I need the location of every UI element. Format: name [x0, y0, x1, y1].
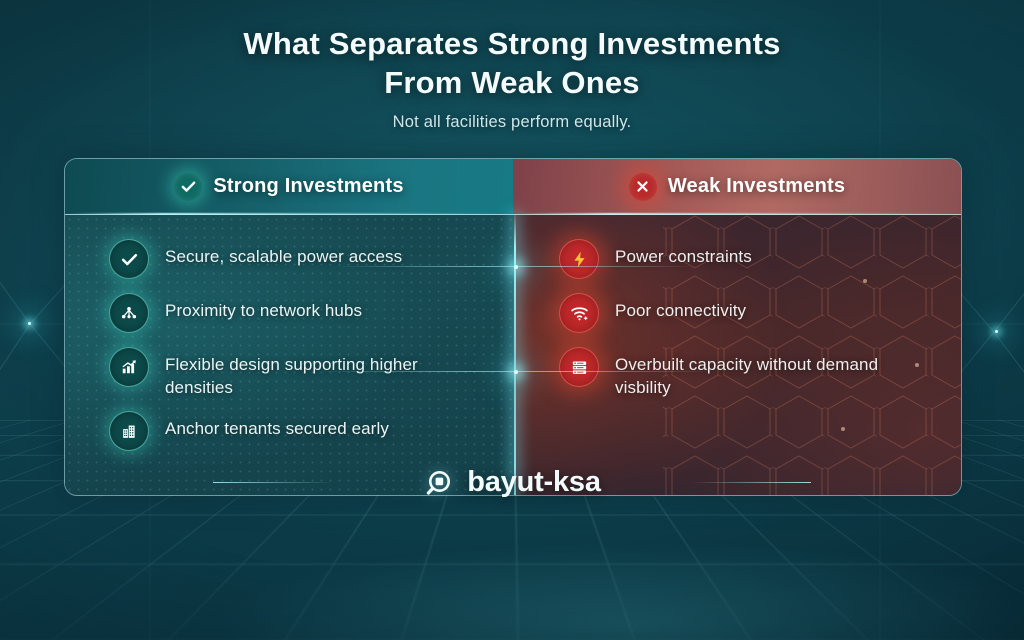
list-item[interactable]: Proximity to network hubs — [65, 299, 513, 333]
right-glow-node — [995, 330, 998, 333]
list-item-label: Poor connectivity — [615, 299, 746, 322]
column-weak-investments: Weak Investments — [513, 159, 961, 495]
list-item-label: Proximity to network hubs — [165, 299, 362, 322]
check-circle-icon — [174, 173, 202, 201]
strong-column-body: Secure, scalable power access — [65, 215, 513, 495]
page-subtitle: Not all facilities perform equally. — [0, 113, 1024, 132]
divider-node — [514, 265, 518, 269]
column-strong-investments: Strong Investments Secure, scalable powe… — [65, 159, 513, 495]
list-item[interactable]: Power constraints — [513, 245, 961, 279]
check-icon — [109, 239, 149, 279]
list-item[interactable]: Anchor tenants secured early — [65, 417, 513, 451]
list-item-label: Overbuilt capacity without demand visbil… — [615, 353, 915, 399]
left-glow-node — [28, 322, 31, 325]
infographic-canvas: What Separates Strong Investments From W… — [0, 0, 1024, 640]
network-nodes-icon — [109, 293, 149, 333]
building-icon — [109, 411, 149, 451]
title-line-1: What Separates Strong Investments — [243, 26, 780, 61]
strong-column-title: Strong Investments — [213, 175, 403, 198]
list-item-label: Anchor tenants secured early — [165, 417, 389, 440]
title-line-2: From Weak Ones — [0, 63, 1024, 102]
list-item[interactable]: Poor connectivity — [513, 299, 961, 333]
logo-beam-left — [691, 482, 811, 483]
weak-column-title: Weak Investments — [668, 175, 845, 198]
lightning-bolt-icon — [559, 239, 599, 279]
list-item-label: Secure, scalable power access — [165, 245, 402, 268]
list-item-label: Power constraints — [615, 245, 752, 268]
divider-node — [514, 370, 518, 374]
strong-items-list: Secure, scalable power access — [65, 215, 513, 451]
list-item-label: Flexible design supporting higher densit… — [165, 353, 475, 399]
x-circle-icon — [629, 173, 657, 201]
list-item[interactable]: Overbuilt capacity without demand visbil… — [513, 353, 961, 399]
weak-column-body: Power constraints — [513, 215, 961, 495]
server-rack-icon — [559, 347, 599, 387]
brand-name: bayut-ksa — [467, 466, 601, 499]
growth-chart-icon — [109, 347, 149, 387]
list-item[interactable]: Flexible design supporting higher densit… — [65, 353, 513, 399]
weak-column-header: Weak Investments — [513, 159, 961, 215]
comparison-panel: Strong Investments Secure, scalable powe… — [64, 158, 962, 496]
heading-block: What Separates Strong Investments From W… — [0, 24, 1024, 132]
wifi-icon — [559, 293, 599, 333]
strong-column-header: Strong Investments — [65, 159, 513, 215]
brand-logo: bayut-ksa — [0, 466, 1024, 499]
page-title: What Separates Strong Investments From W… — [0, 24, 1024, 102]
logo-beam-right — [213, 482, 333, 483]
list-item[interactable]: Secure, scalable power access — [65, 245, 513, 279]
column-divider — [514, 214, 516, 495]
magnifier-target-icon — [423, 467, 455, 499]
